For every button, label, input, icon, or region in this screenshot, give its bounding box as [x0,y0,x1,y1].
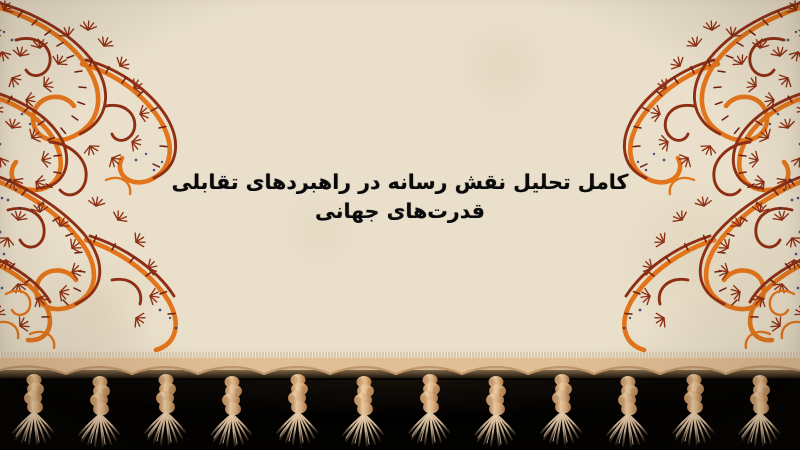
black-background-field [0,374,800,450]
title-line-2: قدرت‌های جهانی [0,197,800,226]
title-line-1: کامل تحلیل نقش رسانه در راهبردهای تقابلی [0,168,800,197]
fabric-edge-shadow [0,370,800,380]
textile-banner-canvas: کامل تحلیل نقش رسانه در راهبردهای تقابلی… [0,0,800,450]
banner-title: کامل تحلیل نقش رسانه در راهبردهای تقابلی… [0,168,800,226]
